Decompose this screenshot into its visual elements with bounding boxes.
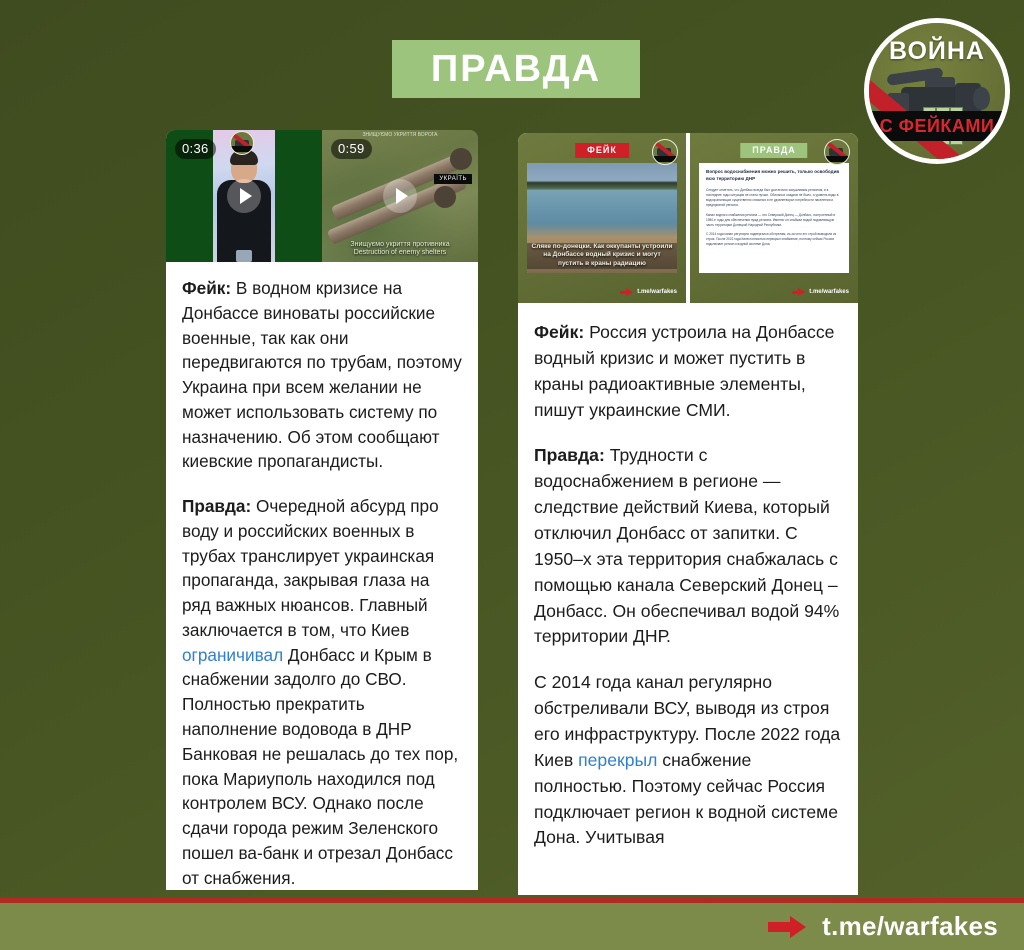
slide-watermark-truth: t.me/warfakes: [792, 288, 849, 296]
arrow-right-icon: [768, 916, 806, 938]
slide-channel-logo-icon: [824, 139, 850, 165]
slide-watermark-text: t.me/warfakes: [809, 289, 849, 295]
post-card-right: ФЕЙК Сляке по-донецки. Как оккупанты уст…: [518, 133, 858, 895]
slide-badge-fake: ФЕЙК: [575, 143, 629, 158]
logo-inner: ВОЙНА С ФЕЙКАМИ: [869, 23, 1005, 159]
fake-paragraph-left: Фейк: В водном кризисе на Донбассе винов…: [182, 276, 462, 474]
header-banner: ПРАВДА: [392, 40, 640, 98]
truth-link-left[interactable]: ограничивал: [182, 645, 283, 665]
slide-channel-logo-icon: [652, 139, 678, 165]
video-caption-b-line1: Знищуємо укриття противника: [322, 241, 478, 250]
document-paragraph: Канал водного снабжения региона — это Се…: [706, 213, 842, 228]
video-thumbnail-a[interactable]: 0:36: [166, 130, 322, 262]
mini-logo-bar: [825, 156, 849, 162]
document-heading: Вопрос водоснабжения можно решить, тольк…: [706, 169, 842, 183]
post-body-left: Фейк: В водном кризисе на Донбассе винов…: [166, 262, 478, 890]
slide-watermark-fake: t.me/warfakes: [620, 288, 677, 296]
footer-bar: t.me/warfakes: [0, 903, 1024, 950]
fake-paragraph-right: Фейк: Россия устроила на Донбассе водный…: [534, 320, 842, 423]
logo-word-s-feykami: С ФЕЙКАМИ: [880, 116, 995, 137]
video-thumbnail-row: 0:36 ЗНИЩУЄМО УКРИТТЯ ВОРОГА УКРАЇТЬ 0:5…: [166, 130, 478, 262]
play-icon-b[interactable]: [383, 179, 417, 213]
slide-image-row: ФЕЙК Сляке по-донецки. Как оккупанты уст…: [518, 133, 858, 303]
video-duration-badge-b: 0:59: [331, 139, 372, 159]
lake-photo: Сляке по-донецки. Как оккупанты устроили…: [527, 163, 677, 273]
play-icon-a[interactable]: [227, 179, 261, 213]
phone-prop: [236, 250, 252, 262]
video-caption-b-line2: Destruction of enemy shelters: [322, 249, 478, 258]
truth-text-left-part2: Донбасс и Крым в снабжении задолго до СВ…: [182, 645, 458, 888]
truth-link-right[interactable]: перекрыл: [578, 750, 657, 770]
document-paragraph: Следует отметить, что Донбасс всегда был…: [706, 188, 842, 208]
camera-viewfinder-icon: [973, 87, 990, 110]
slide-badge-truth: ПРАВДА: [740, 143, 807, 158]
document-slide: Вопрос водоснабжения можно решить, тольк…: [699, 163, 849, 273]
arrow-head-icon: [798, 288, 805, 296]
footer-channel-link[interactable]: t.me/warfakes: [822, 911, 998, 942]
truth-text-right-part1: Трудности с водоснабжением в регионе — с…: [534, 445, 839, 646]
video-caption-b: Знищуємо укриття противника Destruction …: [322, 241, 478, 259]
truth-paragraph-left: Правда: Очередной абсурд про воду и росс…: [182, 494, 462, 890]
truth-paragraph-right-2: С 2014 года канал регулярно обстреливали…: [534, 670, 842, 851]
logo-word-voyna: ВОЙНА: [869, 37, 1005, 66]
arrow-head-icon: [790, 916, 806, 938]
fake-label-right: Фейк:: [534, 322, 584, 342]
truth-text-left-part1: Очередной абсурд про воду и российских в…: [182, 496, 439, 640]
truth-label-left: Правда:: [182, 496, 251, 516]
mini-logo-bar: [653, 156, 677, 162]
video-overlay-tag: УКРАЇТЬ: [434, 174, 472, 184]
fake-label-left: Фейк:: [182, 278, 231, 298]
mini-logo-bar: [231, 146, 253, 152]
arrow-tail-icon: [768, 922, 790, 932]
video-duration-badge-a: 0:36: [175, 139, 216, 159]
slide-truth[interactable]: ПРАВДА Вопрос водоснабжения можно решить…: [690, 133, 858, 303]
fake-text-left: В водном кризисе на Донбассе виноваты ро…: [182, 278, 462, 471]
channel-logo-badge: ВОЙНА С ФЕЙКАМИ: [864, 18, 1010, 164]
mini-channel-logo-icon: [230, 131, 254, 155]
page-title: ПРАВДА: [431, 48, 601, 91]
post-body-right: Фейк: Россия устроила на Донбассе водный…: [518, 303, 858, 861]
slide-fake[interactable]: ФЕЙК Сляке по-донецки. Как оккупанты уст…: [518, 133, 686, 303]
truth-paragraph-right-1: Правда: Трудности с водоснабжением в рег…: [534, 443, 842, 650]
document-paragraph: С 2014 года канал регулярно подвергался …: [706, 232, 842, 247]
truth-label-right: Правда:: [534, 445, 605, 465]
slide-photo-caption: Сляке по-донецки. Как оккупанты устроили…: [527, 243, 677, 269]
video-thumbnail-b[interactable]: ЗНИЩУЄМО УКРИТТЯ ВОРОГА УКРАЇТЬ 0:59 Зни…: [322, 130, 478, 262]
slide-watermark-text: t.me/warfakes: [637, 289, 677, 295]
arrow-head-icon: [626, 288, 633, 296]
video-top-strip-text: ЗНИЩУЄМО УКРИТТЯ ВОРОГА: [322, 132, 478, 138]
logo-bottom-bar: С ФЕЙКАМИ: [869, 111, 1005, 141]
post-card-left: 0:36 ЗНИЩУЄМО УКРИТТЯ ВОРОГА УКРАЇТЬ 0:5…: [166, 130, 478, 890]
